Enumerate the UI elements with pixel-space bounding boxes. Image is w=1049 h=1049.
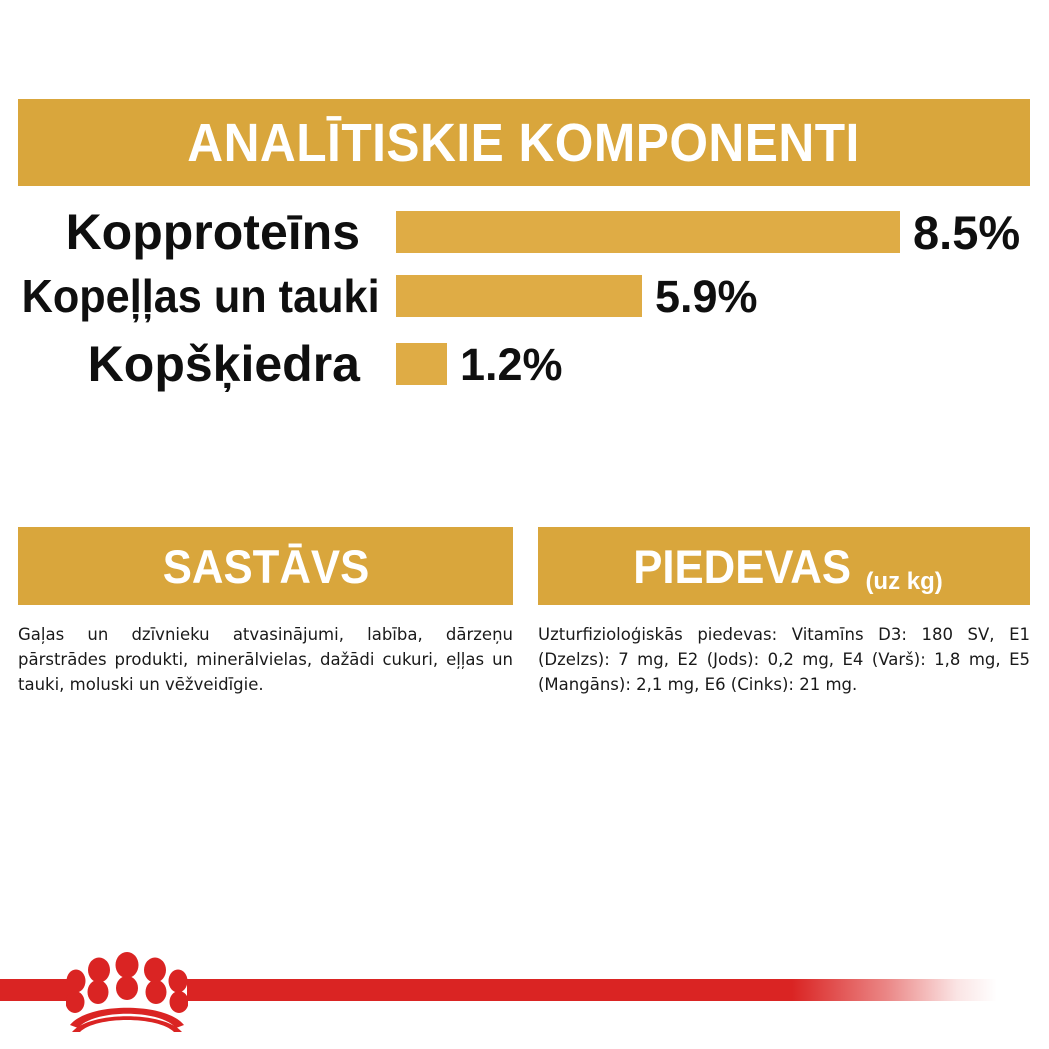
additives-banner: PIEDEVAS (uz kg) bbox=[538, 527, 1030, 605]
chart-row-label: Kopšķiedra bbox=[0, 339, 360, 389]
additives-unit-note: (uz kg) bbox=[865, 570, 942, 594]
brand-rule-right bbox=[187, 979, 1049, 1001]
brand-footer bbox=[0, 930, 1049, 1049]
chart-row-label: Kopeļļas un tauki bbox=[22, 273, 360, 319]
chart-bar bbox=[396, 275, 642, 317]
chart-row: Kopšķiedra 1.2% bbox=[0, 339, 1049, 389]
composition-text: Gaļas un dzīvnieku atvasinājumi, labība,… bbox=[18, 622, 513, 697]
analytical-components-title: ANALĪTISKIE KOMPONENTI bbox=[188, 116, 861, 170]
chart-bar-wrap: 1.2% bbox=[396, 342, 563, 387]
chart-value: 5.9% bbox=[655, 274, 758, 319]
additives-title: PIEDEVAS bbox=[633, 543, 851, 590]
chart-bar bbox=[396, 211, 900, 253]
chart-row: Kopeļļas un tauki 5.9% bbox=[0, 273, 1049, 319]
additives-text: Uzturfizioloģiskās piedevas: Vitamīns D3… bbox=[538, 622, 1030, 697]
chart-value: 1.2% bbox=[460, 342, 563, 387]
composition-title: SASTĀVS bbox=[162, 543, 368, 590]
chart-row: Kopproteīns 8.5% bbox=[0, 207, 1049, 257]
chart-bar-wrap: 5.9% bbox=[396, 274, 758, 319]
royal-canin-crown-icon bbox=[66, 948, 188, 1032]
chart-bar-wrap: 8.5% bbox=[396, 209, 1020, 256]
nutrition-bar-chart: Kopproteīns 8.5% Kopeļļas un tauki 5.9% … bbox=[0, 207, 1049, 397]
chart-bar bbox=[396, 343, 447, 385]
additives-title-group: PIEDEVAS (uz kg) bbox=[625, 543, 943, 590]
chart-value: 8.5% bbox=[913, 209, 1020, 256]
chart-row-label: Kopproteīns bbox=[0, 207, 360, 257]
composition-banner: SASTĀVS bbox=[18, 527, 513, 605]
analytical-components-banner: ANALĪTISKIE KOMPONENTI bbox=[18, 99, 1030, 186]
